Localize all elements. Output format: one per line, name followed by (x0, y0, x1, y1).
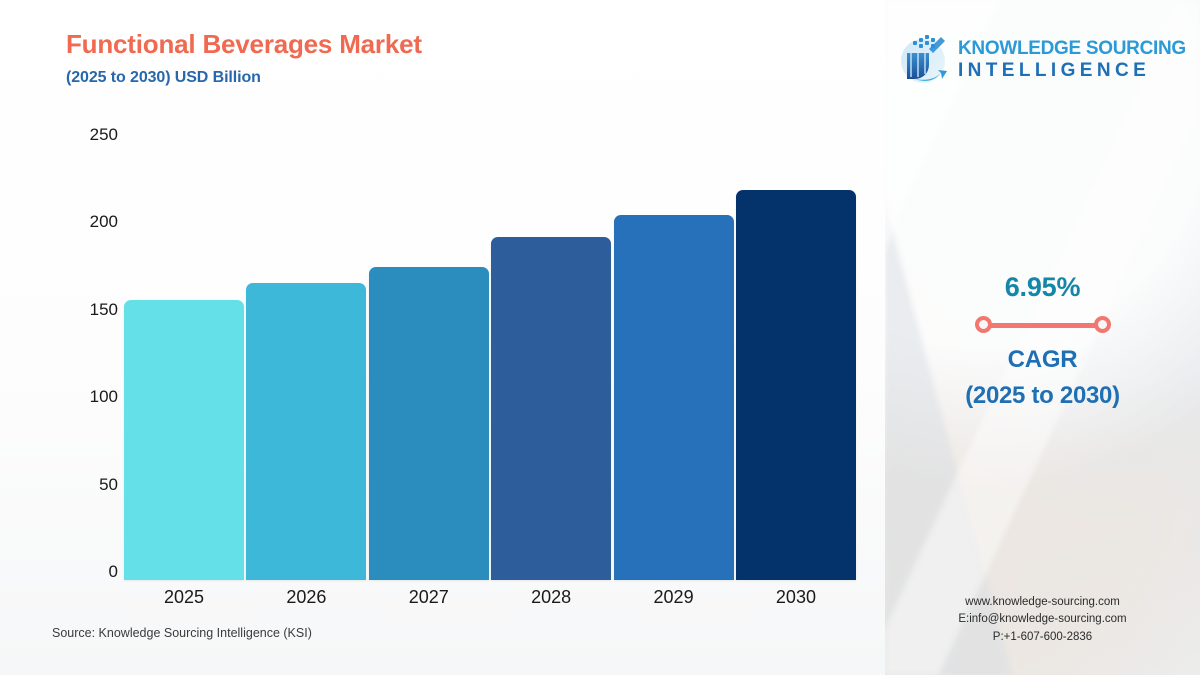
bar-2026[interactable] (246, 283, 366, 580)
chart-header: Functional Beverages Market (2025 to 203… (66, 30, 422, 87)
contact-phone: P:+1-607-600-2836 (885, 629, 1200, 647)
cagr-callout: 6.95% CAGR (2025 to 2030) (885, 272, 1200, 410)
brand-logo-line2: INTELLIGENCE (958, 61, 1186, 80)
y-tick-label: 100 (90, 387, 118, 407)
bar-2028[interactable] (491, 237, 611, 580)
x-tick-label: 2030 (736, 587, 856, 608)
x-tick-label: 2029 (614, 587, 734, 608)
brand-logo-text: KNOWLEDGE SOURCING INTELLIGENCE (958, 39, 1186, 80)
bar-column[interactable] (491, 135, 611, 580)
chart-panel: Functional Beverages Market (2025 to 203… (0, 0, 885, 675)
infographic-page: Functional Beverages Market (2025 to 203… (0, 0, 1200, 675)
brand-logo: KNOWLEDGE SOURCING INTELLIGENCE (895, 28, 1193, 90)
x-tick-label: 2028 (491, 587, 611, 608)
bar-column[interactable] (124, 135, 244, 580)
cagr-line (983, 323, 1103, 328)
cagr-value: 6.95% (885, 272, 1200, 303)
source-note: Source: Knowledge Sourcing Intelligence … (52, 626, 312, 640)
bar-column[interactable] (246, 135, 366, 580)
bar-2029[interactable] (614, 215, 734, 580)
cagr-connector-icon (975, 316, 1111, 334)
x-tick-label: 2027 (369, 587, 489, 608)
bar-column[interactable] (369, 135, 489, 580)
x-axis: 202520262027202820292030 (124, 587, 856, 608)
knowledge-sourcing-logo-icon (895, 31, 951, 87)
bar-column[interactable] (736, 135, 856, 580)
contact-website[interactable]: www.knowledge-sourcing.com (885, 594, 1200, 612)
bar-2025[interactable] (124, 300, 244, 580)
x-tick-label: 2025 (124, 587, 244, 608)
brand-logo-line1: KNOWLEDGE SOURCING (958, 39, 1186, 58)
y-tick-label: 150 (90, 300, 118, 320)
cagr-dot-end (1094, 316, 1111, 333)
y-tick-label: 200 (90, 212, 118, 232)
y-tick-label: 250 (90, 125, 118, 145)
bar-2027[interactable] (369, 267, 489, 580)
cagr-label: CAGR (885, 346, 1200, 374)
y-axis: 250200150100500 (66, 135, 118, 580)
bar-chart: 250200150100500 202520262027202820292030 (66, 135, 856, 580)
y-tick-label: 50 (99, 475, 118, 495)
cagr-dot-start (975, 316, 992, 333)
y-tick-label: 0 (109, 562, 118, 582)
x-tick-label: 2026 (246, 587, 366, 608)
contact-email[interactable]: E:info@knowledge-sourcing.com (885, 611, 1200, 629)
page-subtitle: (2025 to 2030) USD Billion (66, 69, 422, 87)
brand-panel: KNOWLEDGE SOURCING INTELLIGENCE 6.95% CA… (885, 0, 1200, 675)
cagr-period: (2025 to 2030) (885, 382, 1200, 410)
bar-column[interactable] (614, 135, 734, 580)
bar-series (124, 135, 856, 580)
page-title: Functional Beverages Market (66, 30, 422, 60)
bar-2030[interactable] (736, 190, 856, 580)
contact-block: www.knowledge-sourcing.com E:info@knowle… (885, 594, 1200, 647)
